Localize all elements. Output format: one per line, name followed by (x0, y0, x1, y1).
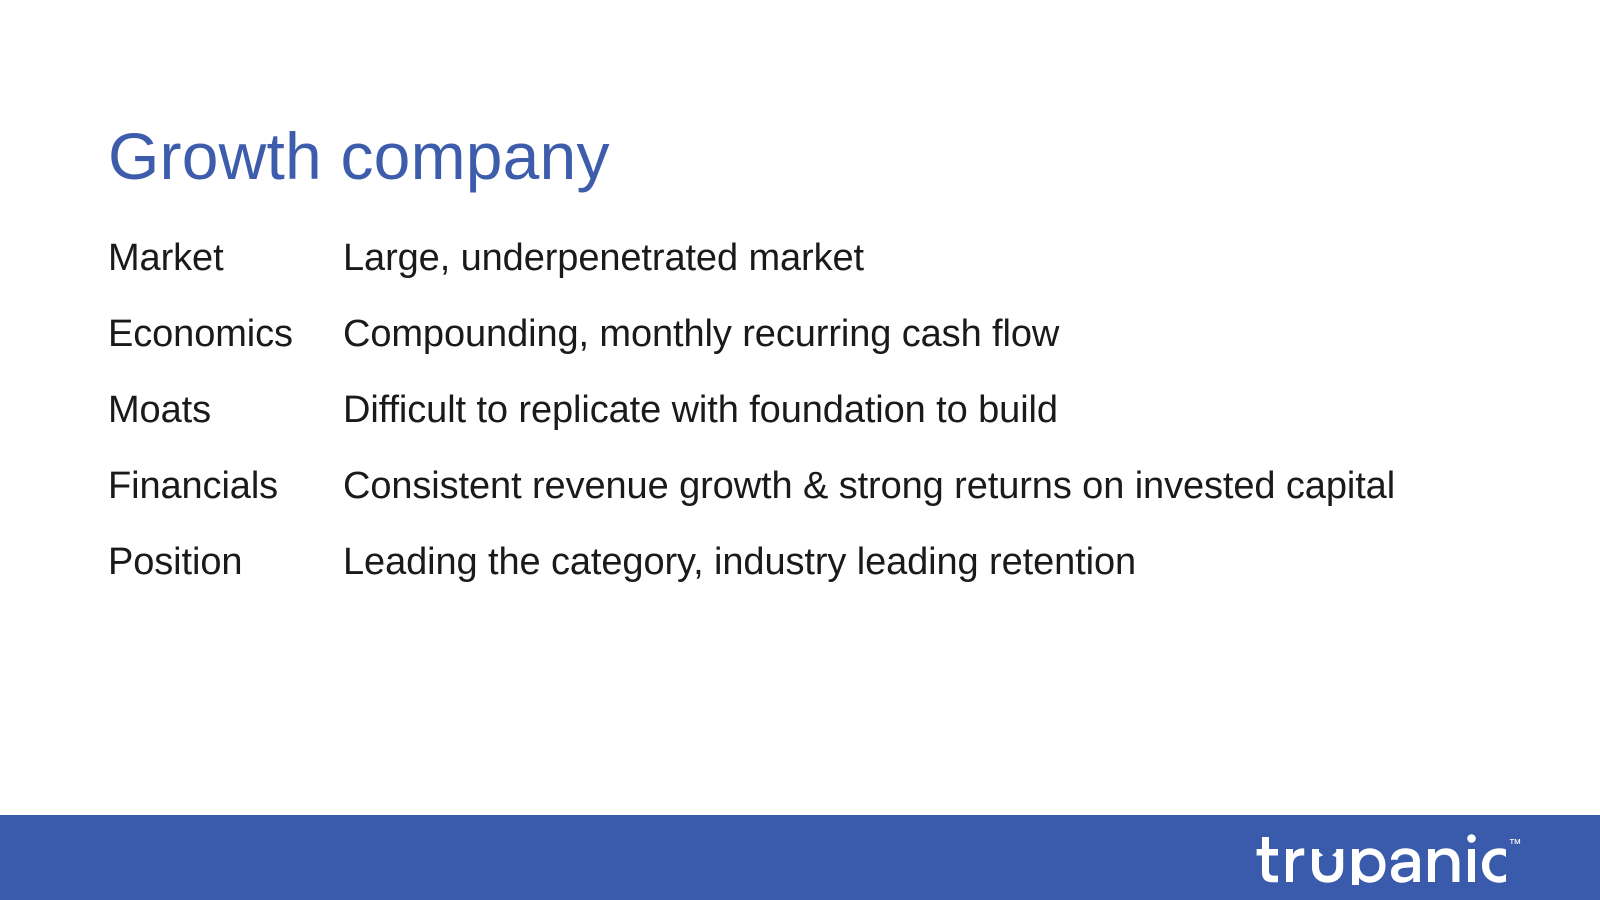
trupanion-wordmark-icon (1256, 831, 1506, 885)
list-item: Position Leading the category, industry … (108, 540, 1558, 616)
row-value-position: Leading the category, industry leading r… (343, 540, 1558, 584)
footer-band: ™ (0, 815, 1600, 900)
list-item: Market Large, underpenetrated market (108, 236, 1558, 312)
row-label-moats: Moats (108, 388, 343, 432)
row-value-market: Large, underpenetrated market (343, 236, 1558, 280)
row-value-economics: Compounding, monthly recurring cash flow (343, 312, 1558, 356)
list-item: Moats Difficult to replicate with founda… (108, 388, 1558, 464)
row-label-market: Market (108, 236, 343, 280)
row-value-financials: Consistent revenue growth & strong retur… (343, 464, 1558, 508)
list-item: Financials Consistent revenue growth & s… (108, 464, 1558, 540)
row-label-financials: Financials (108, 464, 343, 508)
row-label-economics: Economics (108, 312, 343, 356)
slide: Growth company Market Large, underpenetr… (0, 0, 1600, 900)
page-title: Growth company (108, 122, 610, 191)
trademark-symbol: ™ (1509, 837, 1523, 850)
row-label-position: Position (108, 540, 343, 584)
list-item: Economics Compounding, monthly recurring… (108, 312, 1558, 388)
trupanion-logo: ™ (1256, 831, 1523, 885)
attribute-list: Market Large, underpenetrated market Eco… (108, 236, 1558, 616)
row-value-moats: Difficult to replicate with foundation t… (343, 388, 1558, 432)
